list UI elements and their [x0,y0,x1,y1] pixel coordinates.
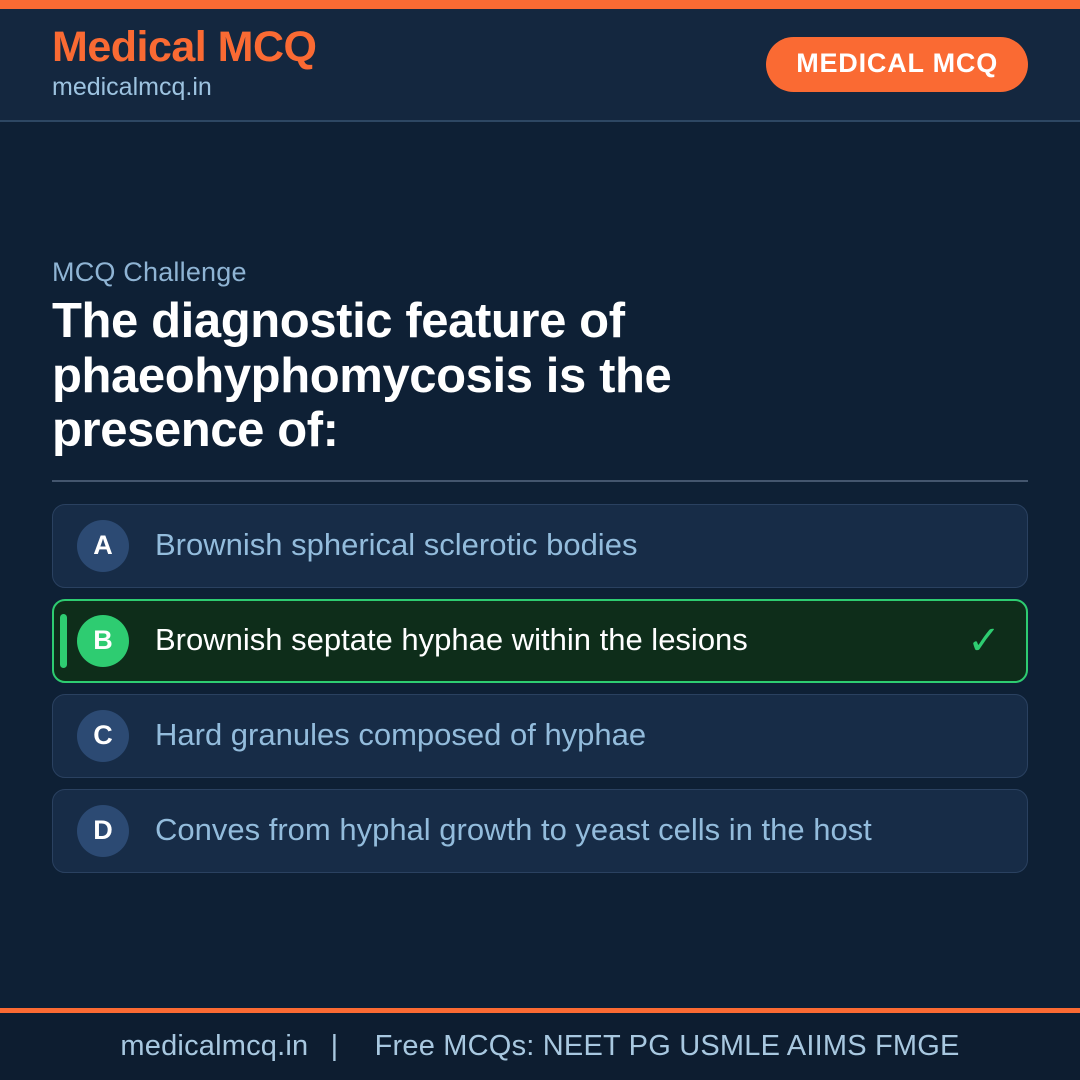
brand-badge: MEDICAL MCQ [766,37,1028,92]
option-a-letter: A [77,520,129,572]
brand-title: Medical MCQ [52,25,317,70]
footer-site: medicalmcq.in [120,1030,308,1062]
option-c-letter: C [77,710,129,762]
option-d-letter: D [77,805,129,857]
header: Medical MCQ medicalmcq.in MEDICAL MCQ [0,9,1080,122]
option-d-text: Conves from hyphal growth to yeast cells… [155,813,1005,848]
brand: Medical MCQ medicalmcq.in [52,25,317,103]
check-icon: ✓ [964,621,1004,661]
option-c[interactable]: C Hard granules composed of hyphae [52,694,1028,778]
question-text: The diagnostic feature of phaeohyphomyco… [52,294,852,457]
eyebrow-label: MCQ Challenge [52,257,1028,288]
option-a-text: Brownish spherical sclerotic bodies [155,528,1005,563]
option-b[interactable]: B Brownish septate hyphae within the les… [52,599,1028,683]
question-divider [52,480,1028,482]
brand-subtitle: medicalmcq.in [52,72,317,103]
option-a[interactable]: A Brownish spherical sclerotic bodies [52,504,1028,588]
footer: medicalmcq.in | Free MCQs: NEET PG USMLE… [0,1008,1080,1080]
correct-accent-bar [60,614,67,668]
footer-text: medicalmcq.in | Free MCQs: NEET PG USMLE… [120,1030,959,1063]
top-accent-bar [0,0,1080,9]
options-list: A Brownish spherical sclerotic bodies B … [52,504,1028,873]
footer-separator: | [317,1030,353,1062]
option-d[interactable]: D Conves from hyphal growth to yeast cel… [52,789,1028,873]
option-b-text: Brownish septate hyphae within the lesio… [155,623,958,658]
mcq-card: Medical MCQ medicalmcq.in MEDICAL MCQ MC… [0,0,1080,1080]
option-b-letter: B [77,615,129,667]
footer-tagline: Free MCQs: NEET PG USMLE AIIMS FMGE [361,1030,960,1062]
main-content: MCQ Challenge The diagnostic feature of … [0,122,1080,1008]
option-c-text: Hard granules composed of hyphae [155,718,1005,753]
